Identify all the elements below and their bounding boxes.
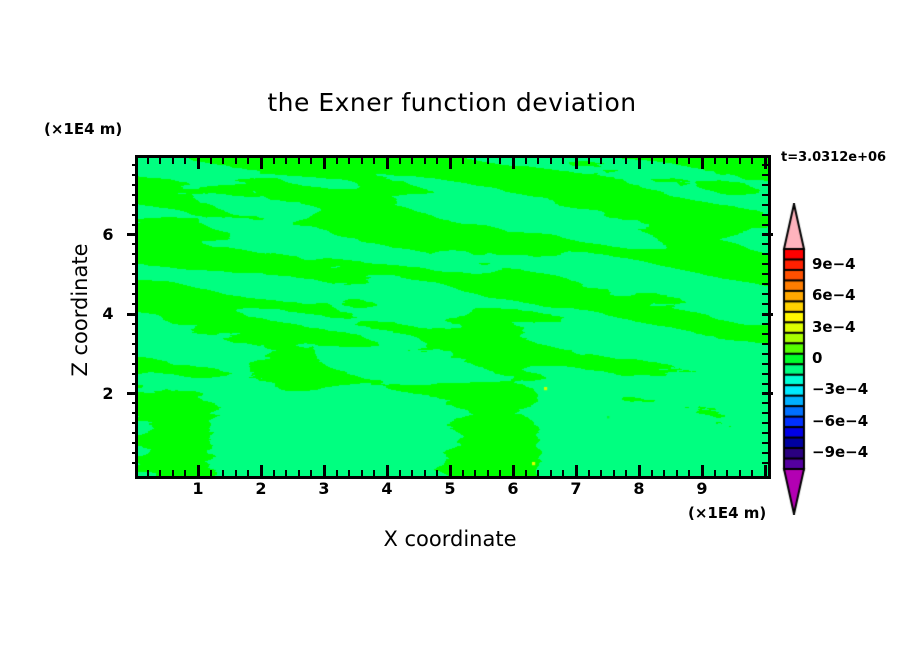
tick-mark	[499, 158, 501, 164]
tick-mark	[762, 353, 768, 355]
tick-mark	[701, 158, 704, 169]
tick-mark	[676, 158, 678, 164]
tick-mark	[132, 253, 138, 255]
y-axis-title: Z coordinate	[68, 210, 92, 410]
tick-mark	[373, 158, 375, 164]
tick-mark	[499, 470, 501, 476]
tick-mark	[132, 412, 138, 414]
y-tick-label: 6	[91, 225, 125, 244]
tick-mark	[714, 158, 716, 164]
tick-mark	[739, 470, 741, 476]
tick-mark	[762, 283, 768, 285]
tick-mark	[726, 470, 728, 476]
colorbar-gradient	[778, 203, 810, 515]
tick-mark	[159, 158, 161, 164]
tick-mark	[613, 158, 615, 164]
tick-mark	[762, 383, 768, 385]
tick-mark	[235, 470, 237, 476]
tick-mark	[273, 158, 275, 164]
tick-mark	[525, 470, 527, 476]
tick-mark	[132, 184, 138, 186]
tick-mark	[575, 158, 578, 169]
tick-mark	[762, 373, 768, 375]
tick-mark	[751, 470, 753, 476]
tick-mark	[310, 158, 312, 164]
tick-mark	[132, 383, 138, 385]
tick-mark	[751, 158, 753, 164]
plot-area	[135, 155, 771, 479]
tick-mark	[512, 465, 515, 476]
tick-mark	[273, 470, 275, 476]
tick-mark	[762, 432, 768, 434]
colorbar-tick-label: 3e−4	[812, 318, 856, 336]
tick-mark	[625, 470, 627, 476]
tick-mark	[739, 158, 741, 164]
y-tick-label: 4	[91, 304, 125, 323]
tick-mark	[127, 313, 138, 316]
tick-mark	[762, 442, 768, 444]
tick-mark	[762, 243, 768, 245]
tick-mark	[651, 470, 653, 476]
tick-mark	[222, 470, 224, 476]
tick-mark	[132, 164, 138, 166]
tick-mark	[132, 303, 138, 305]
tick-mark	[762, 164, 768, 166]
tick-mark	[197, 158, 200, 169]
tick-mark	[562, 158, 564, 164]
tick-mark	[688, 158, 690, 164]
colorbar-tick-label: 0	[812, 349, 822, 367]
tick-mark	[386, 158, 389, 169]
tick-mark	[127, 392, 138, 395]
tick-mark	[588, 158, 590, 164]
tick-mark	[762, 462, 768, 464]
tick-mark	[562, 470, 564, 476]
tick-mark	[361, 158, 363, 164]
tick-mark	[726, 158, 728, 164]
tick-mark	[132, 333, 138, 335]
tick-mark	[260, 158, 263, 169]
tick-mark	[336, 158, 338, 164]
y-tick-label: 2	[91, 384, 125, 403]
tick-mark	[298, 158, 300, 164]
tick-mark	[550, 158, 552, 164]
tick-mark	[132, 402, 138, 404]
x-tick-label: 8	[619, 479, 659, 498]
tick-mark	[132, 373, 138, 375]
tick-mark	[762, 333, 768, 335]
tick-mark	[132, 353, 138, 355]
x-tick-label: 6	[493, 479, 533, 498]
tick-mark	[762, 402, 768, 404]
tick-mark	[411, 470, 413, 476]
tick-mark	[663, 158, 665, 164]
tick-mark	[348, 470, 350, 476]
tick-mark	[361, 470, 363, 476]
tick-mark	[184, 470, 186, 476]
colorbar-tick-label: 6e−4	[812, 286, 856, 304]
x-tick-label: 2	[241, 479, 281, 498]
tick-mark	[436, 158, 438, 164]
x-axis-unit-label: (×1E4 m)	[688, 504, 766, 522]
tick-mark	[762, 293, 768, 295]
tick-mark	[285, 158, 287, 164]
tick-mark	[638, 158, 641, 169]
tick-mark	[762, 323, 768, 325]
tick-mark	[762, 452, 768, 454]
tick-mark	[525, 158, 527, 164]
tick-mark	[411, 158, 413, 164]
x-tick-label: 7	[556, 479, 596, 498]
x-tick-label: 9	[682, 479, 722, 498]
colorbar-tick-label: 9e−4	[812, 255, 856, 273]
tick-mark	[762, 214, 768, 216]
tick-mark	[764, 465, 767, 476]
tick-mark	[762, 412, 768, 414]
tick-mark	[762, 263, 768, 265]
tick-mark	[701, 465, 704, 476]
tick-mark	[449, 158, 452, 169]
tick-mark	[336, 470, 338, 476]
tick-mark	[132, 224, 138, 226]
tick-mark	[132, 363, 138, 365]
tick-mark	[537, 158, 539, 164]
page-title: the Exner function deviation	[0, 88, 904, 117]
tick-mark	[474, 470, 476, 476]
tick-mark	[638, 465, 641, 476]
tick-mark	[487, 158, 489, 164]
tick-mark	[762, 174, 768, 176]
tick-mark	[132, 422, 138, 424]
tick-mark	[613, 470, 615, 476]
tick-mark	[147, 158, 149, 164]
tick-mark	[373, 470, 375, 476]
tick-mark	[310, 470, 312, 476]
tick-mark	[348, 158, 350, 164]
tick-mark	[550, 470, 552, 476]
tick-mark	[132, 323, 138, 325]
tick-mark	[132, 343, 138, 345]
tick-mark	[762, 422, 768, 424]
tick-mark	[197, 465, 200, 476]
tick-mark	[132, 204, 138, 206]
colorbar-tick-label: −6e−4	[812, 412, 868, 430]
tick-mark	[651, 158, 653, 164]
colorbar	[778, 203, 810, 515]
tick-mark	[762, 313, 773, 316]
tick-mark	[247, 158, 249, 164]
tick-mark	[399, 470, 401, 476]
tick-mark	[399, 158, 401, 164]
tick-mark	[588, 470, 590, 476]
tick-mark	[537, 470, 539, 476]
tick-mark	[132, 283, 138, 285]
y-axis-unit-label: (×1E4 m)	[44, 120, 122, 138]
tick-mark	[762, 253, 768, 255]
x-tick-label: 5	[430, 479, 470, 498]
tick-mark	[424, 470, 426, 476]
tick-mark	[449, 465, 452, 476]
x-tick-label: 4	[367, 479, 407, 498]
tick-mark	[132, 194, 138, 196]
tick-mark	[676, 470, 678, 476]
tick-mark	[512, 158, 515, 169]
colorbar-tick-label: −3e−4	[812, 380, 868, 398]
tick-mark	[762, 194, 768, 196]
tick-mark	[298, 470, 300, 476]
tick-mark	[235, 158, 237, 164]
tick-mark	[762, 392, 773, 395]
tick-mark	[132, 214, 138, 216]
tick-mark	[210, 470, 212, 476]
tick-mark	[575, 465, 578, 476]
tick-mark	[132, 462, 138, 464]
tick-mark	[436, 470, 438, 476]
tick-mark	[323, 465, 326, 476]
tick-mark	[762, 363, 768, 365]
tick-mark	[132, 452, 138, 454]
tick-mark	[159, 470, 161, 476]
tick-mark	[132, 273, 138, 275]
tick-mark	[285, 470, 287, 476]
tick-mark	[132, 442, 138, 444]
tick-mark	[600, 470, 602, 476]
tick-mark	[762, 204, 768, 206]
colorbar-tick-label: −9e−4	[812, 443, 868, 461]
tick-mark	[424, 158, 426, 164]
tick-mark	[688, 470, 690, 476]
tick-mark	[210, 158, 212, 164]
tick-mark	[132, 243, 138, 245]
tick-mark	[600, 158, 602, 164]
x-tick-label: 1	[178, 479, 218, 498]
tick-mark	[762, 343, 768, 345]
time-annotation: t=3.0312e+06	[781, 150, 886, 165]
tick-mark	[762, 303, 768, 305]
tick-mark	[172, 158, 174, 164]
tick-mark	[260, 465, 263, 476]
tick-mark	[132, 293, 138, 295]
tick-mark	[172, 470, 174, 476]
tick-mark	[663, 470, 665, 476]
tick-mark	[184, 158, 186, 164]
tick-mark	[762, 273, 768, 275]
tick-mark	[127, 233, 138, 236]
tick-mark	[762, 184, 768, 186]
contour-plot-figure: the Exner function deviation (×1E4 m) t=…	[0, 0, 904, 654]
tick-mark	[462, 470, 464, 476]
x-axis-title: X coordinate	[135, 527, 765, 551]
tick-mark	[247, 470, 249, 476]
contour-field	[138, 158, 768, 476]
x-tick-label: 3	[304, 479, 344, 498]
tick-mark	[323, 158, 326, 169]
tick-mark	[714, 470, 716, 476]
tick-mark	[762, 224, 768, 226]
tick-mark	[762, 233, 773, 236]
tick-mark	[386, 465, 389, 476]
tick-mark	[625, 158, 627, 164]
tick-mark	[222, 158, 224, 164]
tick-mark	[132, 174, 138, 176]
tick-mark	[132, 263, 138, 265]
tick-mark	[132, 432, 138, 434]
tick-mark	[147, 470, 149, 476]
tick-mark	[462, 158, 464, 164]
tick-mark	[487, 470, 489, 476]
tick-mark	[474, 158, 476, 164]
